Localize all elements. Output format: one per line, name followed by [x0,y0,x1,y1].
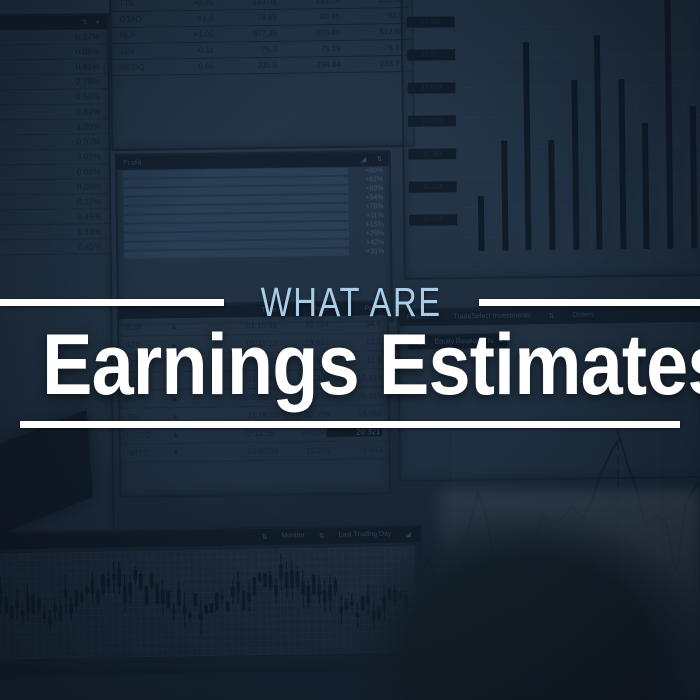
headline-title: Earnings Estimates? [42,325,658,407]
promo-graphic: ⇅ ▾ en0.27%en0.08%ed0.81%en2.78%en0.56%e… [0,0,700,700]
rule-left [0,299,224,306]
rule-right [479,299,700,306]
headline-block: WHAT ARE Earnings Estimates? [0,0,700,700]
rule-bottom [20,421,680,428]
